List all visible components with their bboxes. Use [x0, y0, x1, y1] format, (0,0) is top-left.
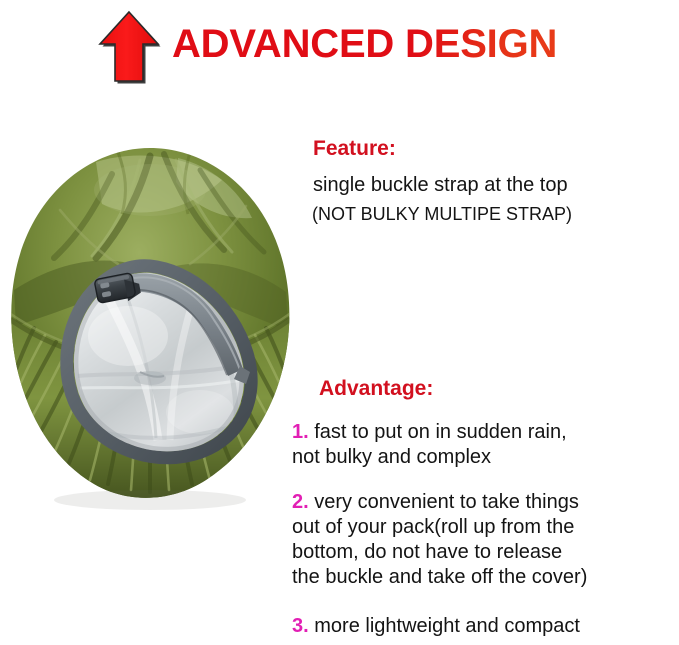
advantage-item-number: 3. — [292, 615, 309, 637]
copy-column: Feature: single buckle strap at the top … — [286, 136, 679, 645]
feature-line-secondary: (NOT BULKY MULTIPE STRAP) — [312, 201, 679, 227]
feature-line-primary: single buckle strap at the top — [313, 172, 679, 198]
advantage-item-number: 2. — [292, 491, 309, 513]
advantage-item-text: fast to put on in sudden rain, — [314, 421, 566, 443]
advantage-item: 1. fast to put on in sudden rain, not bu… — [292, 420, 679, 470]
product-image-rain-cover — [0, 140, 300, 512]
advantage-item: 2. very convenient to take things out of… — [292, 490, 679, 590]
arrow-up-icon — [96, 9, 162, 85]
advantage-item-text: out of your pack(roll up from the — [292, 515, 679, 540]
advantage-item-text: very convenient to take things — [314, 491, 579, 513]
banner: ADVANCED DESIGN — [0, 0, 679, 100]
feature-heading: Feature: — [313, 136, 679, 162]
advantage-item-number: 1. — [292, 421, 309, 443]
page-title: ADVANCED DESIGN — [172, 16, 642, 72]
advantage-item-text: bottom, do not have to release — [292, 540, 679, 565]
advantage-item-text: more lightweight and compact — [314, 615, 580, 637]
advantage-heading: Advantage: — [319, 376, 679, 402]
advantage-item: 3. more lightweight and compact — [292, 614, 679, 639]
advantage-block: Advantage: 1. fast to put on in sudden r… — [313, 376, 679, 639]
advantage-item-text: not bulky and complex — [292, 445, 679, 470]
feature-block: Feature: single buckle strap at the top … — [313, 136, 679, 227]
advantage-item-text: the buckle and take off the cover) — [292, 565, 679, 590]
